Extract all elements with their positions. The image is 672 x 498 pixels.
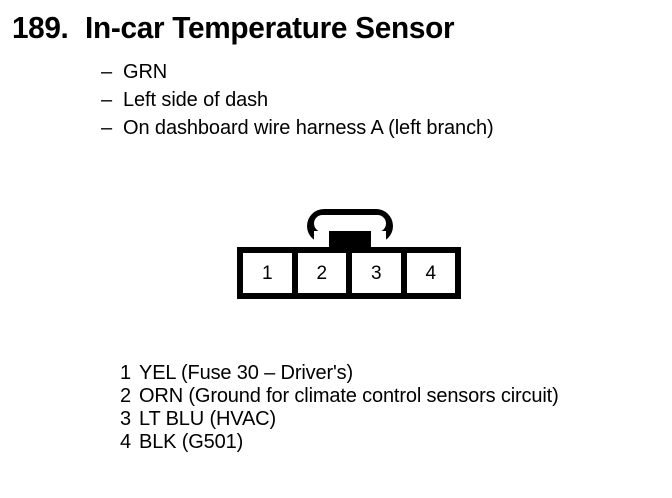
connector-latch-notch-left: [314, 231, 329, 245]
pin-legend-row: 1 YEL (Fuse 30 – Driver's): [120, 362, 559, 385]
diagram-page: 189. In-car Temperature Sensor – GRN – L…: [0, 0, 672, 498]
pin-legend: 1 YEL (Fuse 30 – Driver's) 2 ORN (Ground…: [120, 362, 559, 454]
dash-icon: –: [101, 86, 123, 114]
pin-number: 3: [120, 408, 139, 431]
title-number: 189.: [12, 10, 68, 46]
pin-legend-row: 4 BLK (G501): [120, 431, 559, 454]
title-text: In-car Temperature Sensor: [85, 10, 454, 46]
connector-pin-cell: 3: [352, 253, 401, 293]
connector-pin-cell: 1: [243, 253, 292, 293]
connector-body: 1 2 3 4: [237, 247, 461, 299]
connector-pin-cell: 4: [407, 253, 456, 293]
pin-description: ORN (Ground for climate control sensors …: [139, 385, 559, 408]
description-item-label: On dashboard wire harness A (left branch…: [123, 114, 494, 142]
pin-legend-row: 3 LT BLU (HVAC): [120, 408, 559, 431]
dash-icon: –: [101, 58, 123, 86]
pin-number: 2: [120, 385, 139, 408]
pin-description: YEL (Fuse 30 – Driver's): [139, 362, 353, 385]
description-list: – GRN – Left side of dash – On dashboard…: [101, 58, 494, 142]
connector-latch-inner: [314, 215, 386, 232]
pin-description: LT BLU (HVAC): [139, 408, 276, 431]
description-item: – On dashboard wire harness A (left bran…: [101, 114, 494, 142]
pin-legend-row: 2 ORN (Ground for climate control sensor…: [120, 385, 559, 408]
dash-icon: –: [101, 114, 123, 142]
connector-latch-notch-right: [371, 231, 386, 245]
connector-diagram: 1 2 3 4: [237, 209, 461, 299]
description-item-label: Left side of dash: [123, 86, 268, 114]
pin-number: 1: [120, 362, 139, 385]
page-title: 189. In-car Temperature Sensor: [12, 10, 469, 46]
description-item: – GRN: [101, 58, 494, 86]
pin-description: BLK (G501): [139, 431, 243, 454]
description-item: – Left side of dash: [101, 86, 494, 114]
pin-number: 4: [120, 431, 139, 454]
description-item-label: GRN: [123, 58, 167, 86]
connector-pin-cell: 2: [298, 253, 347, 293]
